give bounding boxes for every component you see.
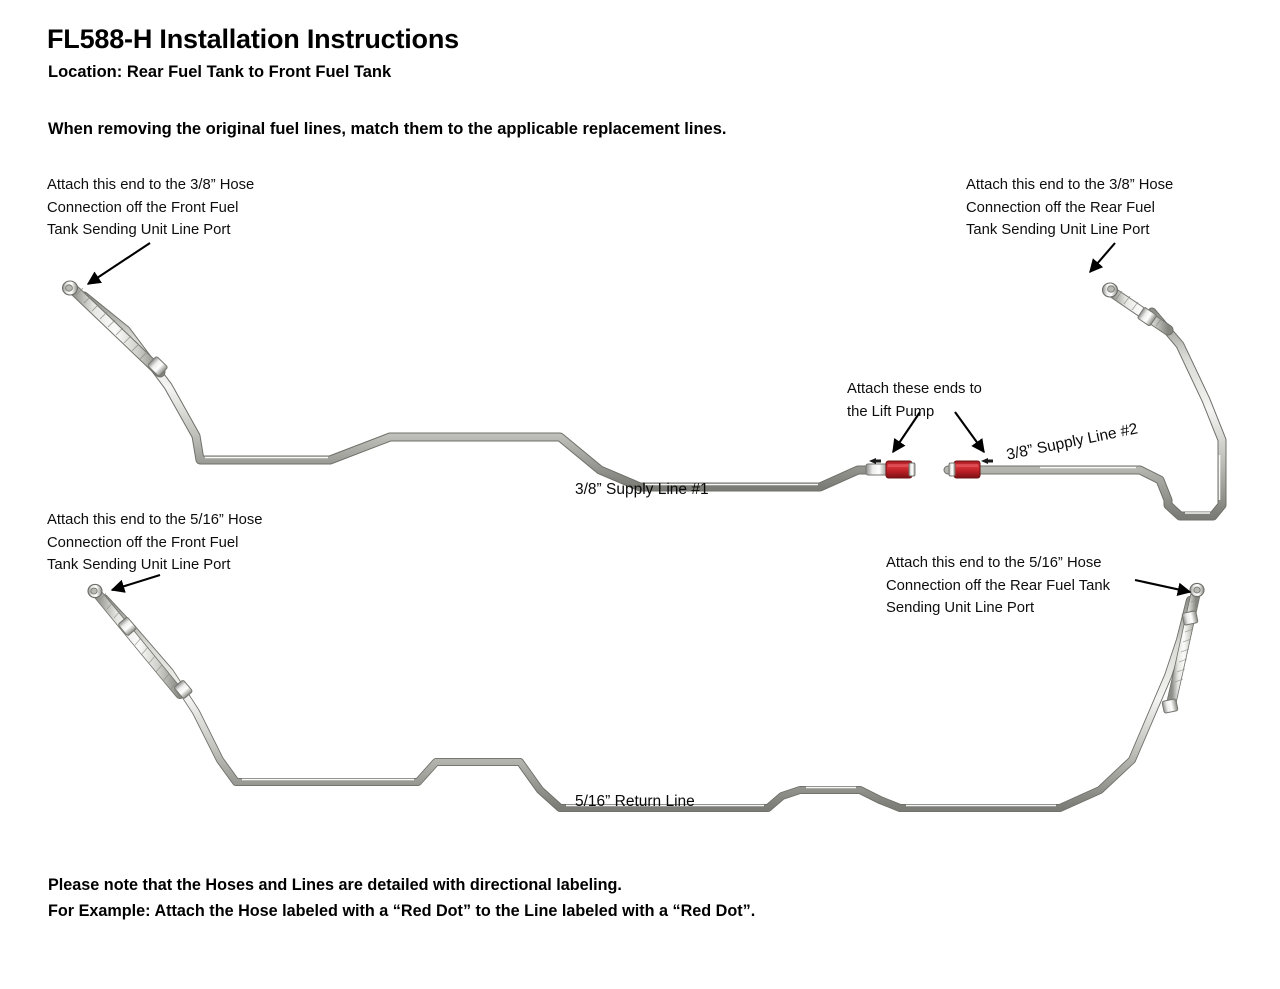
return-line-tube [104,598,1190,808]
supply-line-1-direction-mark [869,458,881,464]
page-title: FL588-H Installation Instructions [47,24,459,55]
supply-line-1-lift-pump-fitting [866,461,915,478]
return-line-rear-hose [1162,583,1204,713]
return-line-front-hose [88,584,193,699]
callout-lift-pump: Attach these ends to the Lift Pump [847,378,982,423]
label-return-line: 5/16” Return Line [575,793,695,811]
supply-line-2-lift-pump-fitting [949,461,980,478]
label-supply-line-2: 3/8” Supply Line #2 [1005,420,1139,464]
supply-line-2-rear-hose [1103,283,1169,330]
supply-line-2-tube [948,312,1222,516]
instruction-line: When removing the original fuel lines, m… [48,120,726,139]
callout-front-fuel-tank-supply: Attach this end to the 3/8” Hose Connect… [47,174,254,242]
page-subtitle: Location: Rear Fuel Tank to Front Fuel T… [48,63,391,82]
leader-arrow-front-return [112,575,160,590]
callout-rear-fuel-tank-return: Attach this end to the 5/16” Hose Connec… [886,552,1110,620]
footer-note: Please note that the Hoses and Lines are… [48,872,755,924]
leader-arrow-front-supply [88,243,150,284]
leader-arrow-rear-supply [1090,243,1115,272]
installation-instruction-sheet: FL588-H Installation Instructions Locati… [0,0,1280,989]
supply-line-1-front-hose [63,281,168,377]
supply-line-2-direction-mark [981,458,993,464]
label-supply-line-1: 3/8” Supply Line #1 [575,481,709,499]
leader-arrow-rear-return [1135,580,1190,592]
callout-rear-fuel-tank-supply: Attach this end to the 3/8” Hose Connect… [966,174,1173,242]
callout-front-fuel-tank-return: Attach this end to the 5/16” Hose Connec… [47,509,263,577]
supply-line-1-tube [84,296,878,487]
